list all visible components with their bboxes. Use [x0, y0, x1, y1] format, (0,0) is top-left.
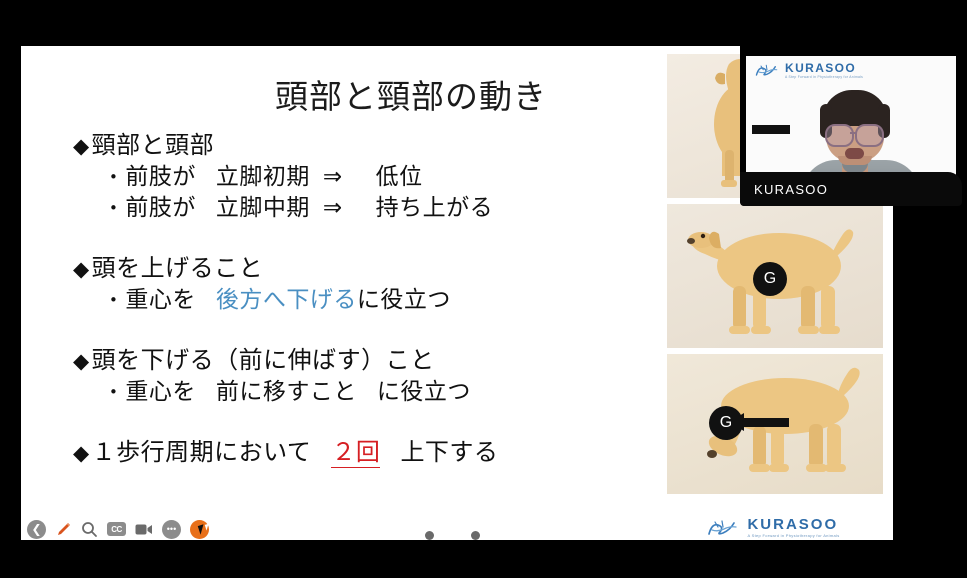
video-camera-button[interactable]: [135, 520, 153, 539]
participant-name-label: KURASOO: [740, 182, 828, 197]
webcam-video-feed: KURASOO A Step Forward in Physiotherapy …: [746, 56, 956, 190]
block-1-heading: ◆頸部と頭部: [73, 130, 638, 162]
spacer: [73, 320, 638, 345]
webcam-brand-text: KURASOO A Step Forward in Physiotherapy …: [785, 62, 863, 79]
content-block-4: ◆１歩行周期において２回上下する: [73, 437, 638, 469]
slide-body: ◆頸部と頭部 •前肢が立脚初期⇒低位 •前肢が立脚中期⇒持ち上がる ◆頭を上げる…: [73, 130, 638, 473]
glasses-right-lens-icon: [855, 124, 884, 147]
spacer: [73, 228, 638, 253]
mouse-cursor-icon: [198, 524, 206, 534]
brand-tagline: A Step Forward in Physiotherapy for Anim…: [785, 76, 863, 79]
glasses-bridge-icon: [850, 132, 856, 134]
g-label: G: [720, 414, 732, 432]
diamond-bullet-icon: ◆: [73, 134, 90, 158]
highlight-blue-text: 後方へ下げる: [216, 287, 357, 313]
block-2-bullet-1: •重心を後方へ下げるに役立つ: [109, 285, 638, 316]
brand-tagline: A Step Forward in Physiotherapy for Anim…: [747, 534, 839, 538]
pen-tool-button[interactable]: [55, 520, 72, 539]
page-dot-2-active[interactable]: [448, 531, 457, 540]
webcam-overlay[interactable]: KURASOO A Step Forward in Physiotherapy …: [740, 40, 962, 206]
closed-caption-button[interactable]: CC: [107, 520, 126, 539]
slide-toolbar[interactable]: ❮ CC •••: [21, 516, 179, 542]
marker-bar-icon: [752, 125, 790, 134]
block-4-heading: ◆１歩行周期において２回上下する: [73, 437, 638, 469]
kurasoo-logo-text: KURASOO A Step Forward in Physiotherapy …: [747, 517, 839, 538]
dot-bullet-icon: •: [109, 291, 118, 309]
video-camera-icon: [135, 523, 153, 536]
content-block-2: ◆頭を上げること •重心を後方へ下げるに役立つ: [73, 253, 638, 316]
block-3-bullet-1: •重心を前に移すことに役立つ: [109, 377, 638, 408]
highlight-red-text: ２回: [331, 438, 380, 468]
record-button[interactable]: [190, 520, 209, 539]
back-arrow-icon: ❮: [27, 520, 46, 539]
dog-standing-profile-image: G: [667, 204, 883, 348]
diamond-bullet-icon: ◆: [73, 441, 90, 465]
g-label: G: [764, 270, 776, 288]
center-of-gravity-marker: G: [709, 406, 743, 440]
brand-name: KURASOO: [747, 517, 839, 532]
page-dot-1[interactable]: [425, 531, 434, 540]
dot-bullet-icon: •: [109, 383, 118, 401]
search-button[interactable]: [81, 520, 98, 539]
block-1-bullet-2: •前肢が立脚中期⇒持ち上がる: [109, 193, 638, 224]
participant-name-badge: KURASOO: [740, 172, 962, 206]
page-title: 頭部と頸部の動き: [171, 70, 651, 118]
pagination-dots[interactable]: [425, 531, 480, 540]
more-options-button[interactable]: •••: [162, 520, 181, 539]
direction-arrow-icon: [741, 418, 789, 427]
spacer: [73, 412, 638, 437]
block-2-heading: ◆頭を上げること: [73, 253, 638, 285]
kurasoo-logo-icon: [754, 63, 780, 78]
dog-head-lowered-image: G: [667, 354, 883, 494]
brand-name: KURASOO: [785, 62, 863, 74]
block-3-heading: ◆頭を下げる（前に伸ばす）こと: [73, 345, 638, 377]
screen-root: 頭部と頸部の動き ◆頸部と頭部 •前肢が立脚初期⇒低位 •前肢が立脚中期⇒持ち上…: [0, 0, 967, 578]
center-of-gravity-marker: G: [753, 262, 787, 296]
diamond-bullet-icon: ◆: [73, 349, 90, 373]
glasses-left-lens-icon: [825, 124, 854, 147]
block-1-bullet-1: •前肢が立脚初期⇒低位: [109, 162, 638, 193]
cc-icon: CC: [107, 522, 126, 536]
content-block-1: ◆頸部と頭部 •前肢が立脚初期⇒低位 •前肢が立脚中期⇒持ち上がる: [73, 130, 638, 224]
slide-brand-logo: KURASOO A Step Forward in Physiotherapy …: [665, 517, 881, 538]
dot-bullet-icon: •: [109, 199, 118, 217]
kurasoo-logo-icon: [706, 518, 740, 538]
more-dots-icon: •••: [162, 520, 181, 539]
content-block-3: ◆頭を下げる（前に伸ばす）こと •重心を前に移すことに役立つ: [73, 345, 638, 408]
dot-bullet-icon: •: [109, 168, 118, 186]
page-dot-3[interactable]: [471, 531, 480, 540]
person-mouth: [845, 148, 864, 159]
back-button[interactable]: ❮: [27, 520, 46, 539]
pen-icon: [55, 521, 72, 538]
search-icon: [81, 521, 98, 538]
webcam-brand-logo: KURASOO A Step Forward in Physiotherapy …: [754, 62, 863, 79]
diamond-bullet-icon: ◆: [73, 257, 90, 281]
